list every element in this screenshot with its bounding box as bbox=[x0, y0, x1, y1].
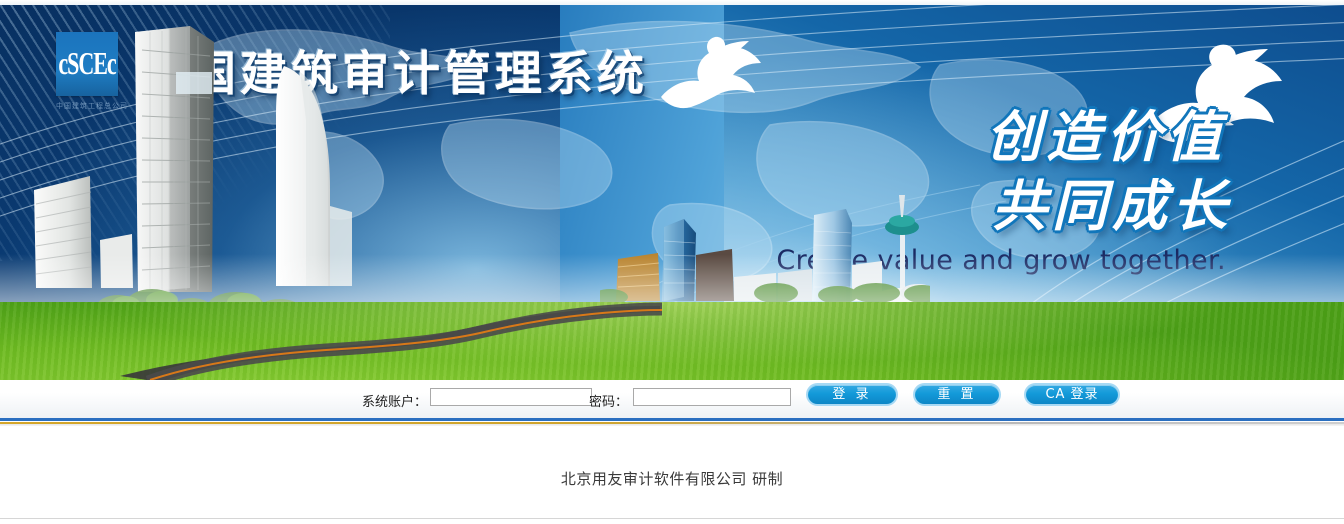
login-page: cSCEc 中国建筑工程总公司 中国建筑审计管理系统 创造价值 共同成长 Cre… bbox=[0, 0, 1344, 524]
account-input[interactable] bbox=[430, 388, 592, 406]
dove-icon bbox=[655, 33, 765, 113]
password-label: 密码： bbox=[589, 391, 628, 410]
password-input[interactable] bbox=[633, 388, 791, 406]
horizon-haze bbox=[0, 254, 1344, 306]
ca-login-button[interactable]: CA 登录 bbox=[1024, 383, 1120, 406]
reset-button[interactable]: 重 置 bbox=[913, 383, 1001, 406]
road-graphic bbox=[120, 300, 760, 380]
slogan-line-1: 创造价值 bbox=[776, 108, 1226, 167]
footer: 北京用友审计软件有限公司 研制 bbox=[0, 426, 1344, 518]
footer-credit-text: 北京用友审计软件有限公司 研制 bbox=[0, 468, 1344, 489]
login-button[interactable]: 登 录 bbox=[806, 383, 898, 406]
bottom-rule bbox=[0, 518, 1344, 519]
section-divider bbox=[0, 418, 1344, 426]
banner: cSCEc 中国建筑工程总公司 中国建筑审计管理系统 创造价值 共同成长 Cre… bbox=[0, 5, 1344, 380]
account-label: 系统账户： bbox=[362, 391, 427, 410]
divider-blue-line bbox=[0, 418, 1344, 421]
login-bar: 系统账户： 密码： 登 录 重 置 CA 登录 bbox=[0, 380, 1344, 418]
